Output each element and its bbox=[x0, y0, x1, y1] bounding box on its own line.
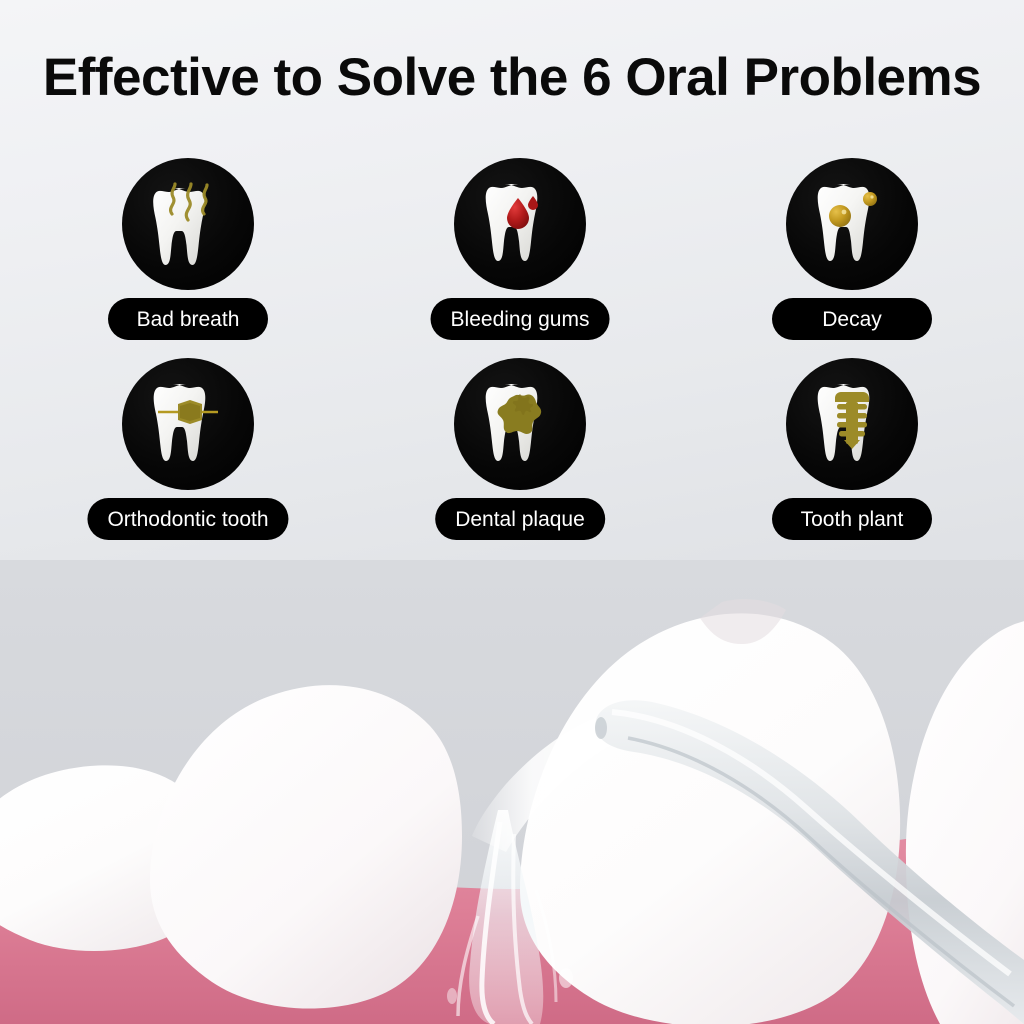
problem-label: Bleeding gums bbox=[451, 309, 590, 330]
tooth-cavity-icon bbox=[786, 158, 918, 290]
badge-disc bbox=[454, 158, 586, 290]
mouth-scene bbox=[0, 560, 1024, 1024]
problem-label: Dental plaque bbox=[455, 509, 585, 530]
problem-grid: Bad breath bbox=[0, 158, 1024, 553]
problem-item-bleeding-gums[interactable]: Bleeding gums bbox=[355, 158, 685, 353]
tooth-braces-icon bbox=[122, 358, 254, 490]
problem-label-pill[interactable]: Orthodontic tooth bbox=[87, 498, 288, 540]
water-flosser-illustration bbox=[0, 560, 1024, 1024]
problem-label: Decay bbox=[822, 309, 882, 330]
problem-item-bad-breath[interactable]: Bad breath bbox=[23, 158, 353, 353]
problem-label-pill[interactable]: Decay bbox=[772, 298, 932, 340]
page-title: Effective to Solve the 6 Oral Problems bbox=[0, 50, 1024, 106]
badge-disc bbox=[122, 158, 254, 290]
tooth-blood-icon bbox=[454, 158, 586, 290]
problem-item-dental-plaque[interactable]: Dental plaque bbox=[355, 358, 685, 553]
badge-disc bbox=[122, 358, 254, 490]
badge-disc bbox=[454, 358, 586, 490]
problem-label: Bad breath bbox=[137, 309, 240, 330]
badge-disc bbox=[786, 358, 918, 490]
tooth-odor-icon bbox=[122, 158, 254, 290]
problem-label-pill[interactable]: Bad breath bbox=[108, 298, 268, 340]
tooth-plaque-icon bbox=[454, 358, 586, 490]
problem-item-decay[interactable]: Decay bbox=[687, 158, 1017, 353]
infographic-canvas: Effective to Solve the 6 Oral Problems bbox=[0, 0, 1024, 1024]
problem-item-tooth-plant[interactable]: Tooth plant bbox=[687, 358, 1017, 553]
problem-label-pill[interactable]: Dental plaque bbox=[435, 498, 605, 540]
problem-label: Orthodontic tooth bbox=[107, 509, 268, 530]
problem-label: Tooth plant bbox=[801, 509, 904, 530]
problem-item-orthodontic-tooth[interactable]: Orthodontic tooth bbox=[23, 358, 353, 553]
nozzle-outlet-hole bbox=[595, 717, 607, 739]
problem-label-pill[interactable]: Bleeding gums bbox=[431, 298, 610, 340]
badge-disc bbox=[786, 158, 918, 290]
problem-label-pill[interactable]: Tooth plant bbox=[772, 498, 932, 540]
tooth-implant-icon bbox=[786, 358, 918, 490]
